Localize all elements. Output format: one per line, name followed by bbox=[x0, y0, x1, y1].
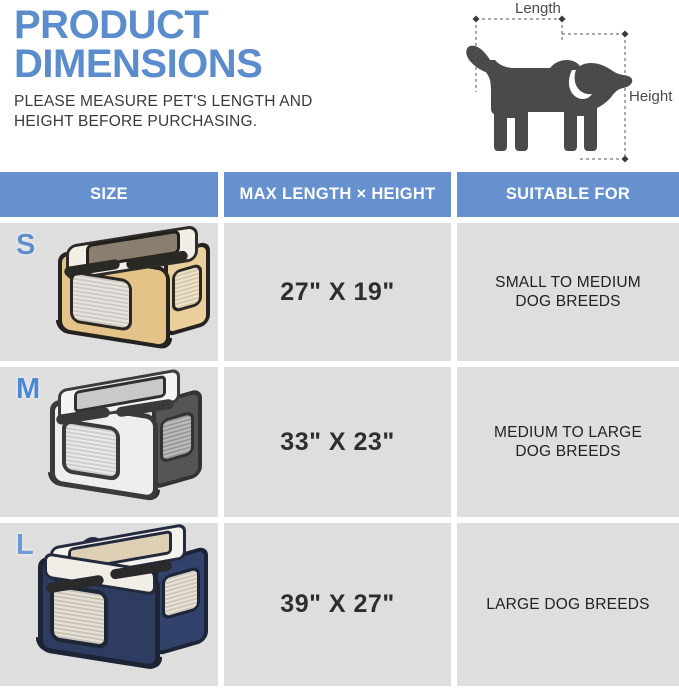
height-label: Height bbox=[629, 88, 672, 105]
table-row: M 33" X 23" MEDIUM TO LARGE DOG BREEDS bbox=[0, 367, 679, 517]
suitable-for-value-s: SMALL TO MEDIUM DOG BREEDS bbox=[495, 273, 641, 312]
suitable-for-cell-m: MEDIUM TO LARGE DOG BREEDS bbox=[457, 367, 679, 517]
page-subtitle: PLEASE MEASURE PET'S LENGTH AND HEIGHT B… bbox=[14, 92, 313, 132]
crate-image-l bbox=[28, 535, 218, 677]
product-dimensions-infographic: PRODUCT DIMENSIONS PLEASE MEASURE PET'S … bbox=[0, 0, 679, 696]
dimensions-table: SIZE MAX LENGTH × HEIGHT SUITABLE FOR S bbox=[0, 172, 679, 686]
dimensions-cell-m: 33" X 23" bbox=[224, 367, 451, 517]
table-header-row: SIZE MAX LENGTH × HEIGHT SUITABLE FOR bbox=[0, 172, 679, 217]
column-header-size: SIZE bbox=[0, 172, 218, 217]
length-label: Length bbox=[515, 0, 561, 17]
size-label-l: L bbox=[16, 529, 34, 562]
crate-front-mesh bbox=[62, 418, 120, 481]
dog-silhouette-icon bbox=[466, 46, 632, 156]
crate-front-mesh bbox=[70, 270, 132, 332]
column-header-suitable-for: SUITABLE FOR bbox=[457, 172, 679, 217]
dimensions-cell-s: 27" X 19" bbox=[224, 223, 451, 361]
table-row: S 27" X 19" SMALL TO MEDIUM DOG BREEDS bbox=[0, 223, 679, 361]
column-header-size-label: SIZE bbox=[90, 185, 128, 204]
dimensions-value-s: 27" X 19" bbox=[280, 278, 394, 307]
crate-front-mesh bbox=[50, 582, 108, 649]
column-header-suitable-for-label: SUITABLE FOR bbox=[506, 185, 630, 204]
marker-height-start bbox=[621, 30, 628, 37]
size-label-m: M bbox=[16, 373, 40, 406]
suitable-for-value-l: LARGE DOG BREEDS bbox=[486, 595, 649, 614]
crate-image-m bbox=[40, 379, 210, 509]
crate-image-s bbox=[52, 233, 212, 353]
header-section: PRODUCT DIMENSIONS PLEASE MEASURE PET'S … bbox=[0, 0, 679, 172]
column-header-dimensions-label: MAX LENGTH × HEIGHT bbox=[240, 185, 436, 204]
size-cell-m: M bbox=[0, 367, 218, 517]
size-label-s: S bbox=[16, 229, 35, 262]
marker-height-end bbox=[621, 155, 628, 162]
table-row: L 39" X 27" LARGE bbox=[0, 523, 679, 686]
dimensions-value-l: 39" X 27" bbox=[280, 590, 394, 619]
column-header-dimensions: MAX LENGTH × HEIGHT bbox=[224, 172, 451, 217]
size-cell-l: L bbox=[0, 523, 218, 686]
dimensions-value-m: 33" X 23" bbox=[280, 428, 394, 457]
dimensions-cell-l: 39" X 27" bbox=[224, 523, 451, 686]
suitable-for-cell-l: LARGE DOG BREEDS bbox=[457, 523, 679, 686]
page-title: PRODUCT DIMENSIONS bbox=[14, 6, 262, 84]
dog-measurement-diagram: Length Height bbox=[452, 0, 679, 172]
dog-diagram-svg bbox=[452, 0, 679, 172]
suitable-for-value-m: MEDIUM TO LARGE DOG BREEDS bbox=[494, 423, 642, 462]
suitable-for-cell-s: SMALL TO MEDIUM DOG BREEDS bbox=[457, 223, 679, 361]
marker-length-start bbox=[472, 15, 479, 22]
size-cell-s: S bbox=[0, 223, 218, 361]
